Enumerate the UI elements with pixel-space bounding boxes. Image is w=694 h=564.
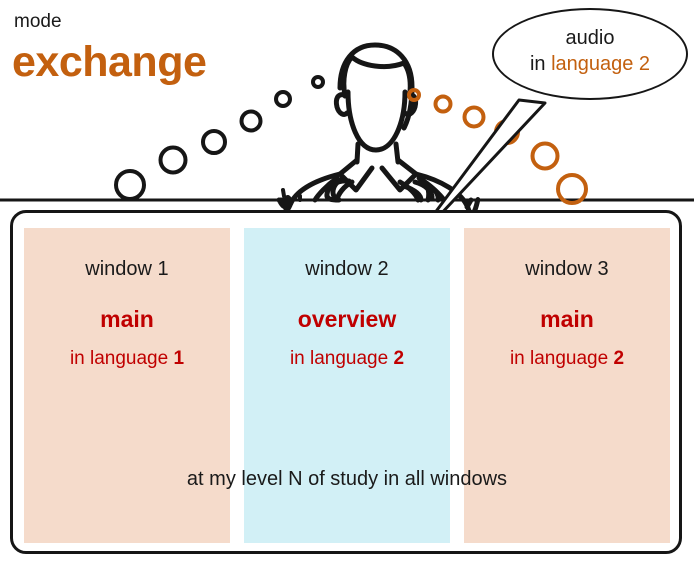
black-circle-arc [116, 77, 323, 199]
person-figure [279, 45, 478, 214]
speech-bubble-line2-prefix: in [530, 53, 551, 75]
window-1-language-prefix: in language [70, 348, 174, 369]
window-3-language-prefix: in language [510, 348, 614, 369]
window-3-title: window 3 [464, 258, 670, 281]
window-panel-3[interactable]: window 3 main in language 2 [464, 228, 670, 543]
speech-bubble-line1: audio [492, 25, 688, 51]
mode-label: mode [14, 12, 62, 31]
windows-panel-row: window 1 main in language 1 window 2 ove… [24, 228, 670, 543]
speech-bubble-text: audio in language 2 [492, 25, 688, 78]
window-2-kind: overview [244, 306, 450, 333]
window-1-kind: main [24, 306, 230, 333]
window-3-language-number: 2 [613, 348, 624, 369]
window-2-language: in language 2 [244, 348, 450, 370]
mode-value: exchange [12, 40, 206, 85]
window-3-language: in language 2 [464, 348, 670, 370]
window-1-title: window 1 [24, 258, 230, 281]
speech-bubble-line2-accent: language 2 [551, 53, 650, 75]
window-panel-1[interactable]: window 1 main in language 1 [24, 228, 230, 543]
window-panel-2[interactable]: window 2 overview in language 2 [244, 228, 450, 543]
window-1-language: in language 1 [24, 348, 230, 370]
window-1-language-number: 1 [173, 348, 184, 369]
speech-bubble: audio in language 2 [492, 8, 688, 100]
window-2-language-prefix: in language [290, 348, 394, 369]
window-2-title: window 2 [244, 258, 450, 281]
orange-circle-arc [409, 90, 586, 203]
speech-bubble-line2: in language 2 [492, 51, 688, 77]
window-3-kind: main [464, 306, 670, 333]
window-2-language-number: 2 [393, 348, 404, 369]
diagram-canvas: mode exchange [0, 0, 694, 564]
footer-note: at my level N of study in all windows [0, 468, 694, 491]
